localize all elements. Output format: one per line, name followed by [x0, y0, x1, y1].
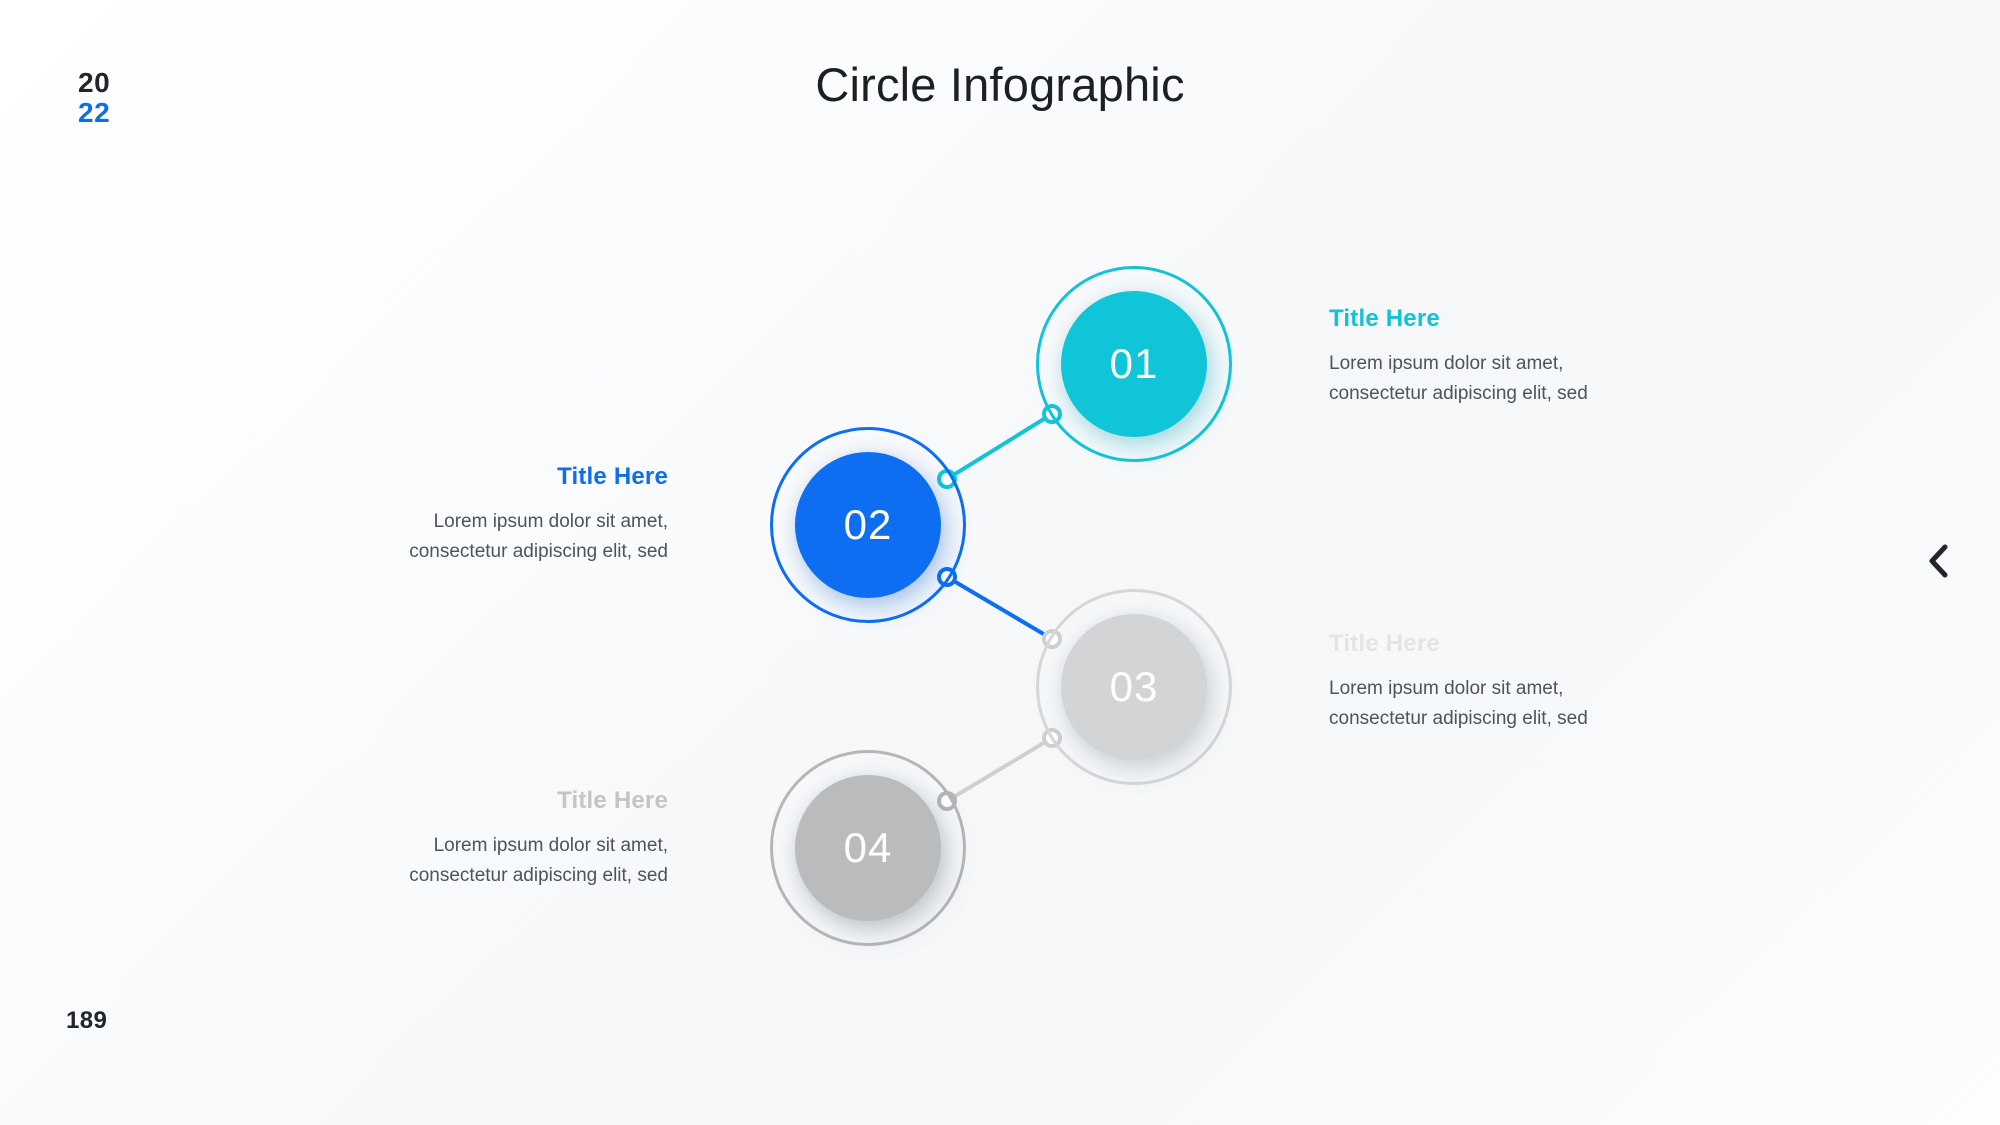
circle-node-03[interactable]: 03	[1036, 589, 1232, 785]
circle-number-02: 02	[795, 452, 941, 598]
circle-number-03: 03	[1061, 614, 1207, 760]
item-body-03: Lorem ipsum dolor sit amet, consectetur …	[1329, 674, 1659, 733]
page-number: 189	[66, 1007, 107, 1035]
item-title-03: Title Here	[1329, 630, 1659, 658]
connector-lines	[0, 0, 2000, 1125]
connector-02-01	[947, 414, 1052, 479]
circle-number-04: 04	[795, 775, 941, 921]
item-title-04: Title Here	[338, 787, 668, 815]
item-body-02: Lorem ipsum dolor sit amet, consectetur …	[338, 507, 668, 566]
item-body-01: Lorem ipsum dolor sit amet, consectetur …	[1329, 349, 1659, 408]
item-title-01: Title Here	[1329, 305, 1659, 333]
circle-node-04[interactable]: 04	[770, 750, 966, 946]
connector-03-04	[947, 738, 1052, 801]
circle-node-02[interactable]: 02	[770, 427, 966, 623]
item-body-04: Lorem ipsum dolor sit amet, consectetur …	[338, 831, 668, 890]
item-text-01: Title Here Lorem ipsum dolor sit amet, c…	[1329, 305, 1659, 408]
item-text-02: Title Here Lorem ipsum dolor sit amet, c…	[338, 463, 668, 566]
item-title-02: Title Here	[338, 463, 668, 491]
item-text-04: Title Here Lorem ipsum dolor sit amet, c…	[338, 787, 668, 890]
slide-canvas: 20 22 Circle Infographic 189 01 02	[0, 0, 2000, 1125]
chevron-left-icon	[1925, 541, 1953, 581]
prev-slide-button[interactable]	[1915, 537, 1963, 585]
circle-number-01: 01	[1061, 291, 1207, 437]
page-title: Circle Infographic	[0, 57, 2000, 112]
circle-node-01[interactable]: 01	[1036, 266, 1232, 462]
item-text-03: Title Here Lorem ipsum dolor sit amet, c…	[1329, 630, 1659, 733]
connector-02-03	[947, 577, 1052, 639]
